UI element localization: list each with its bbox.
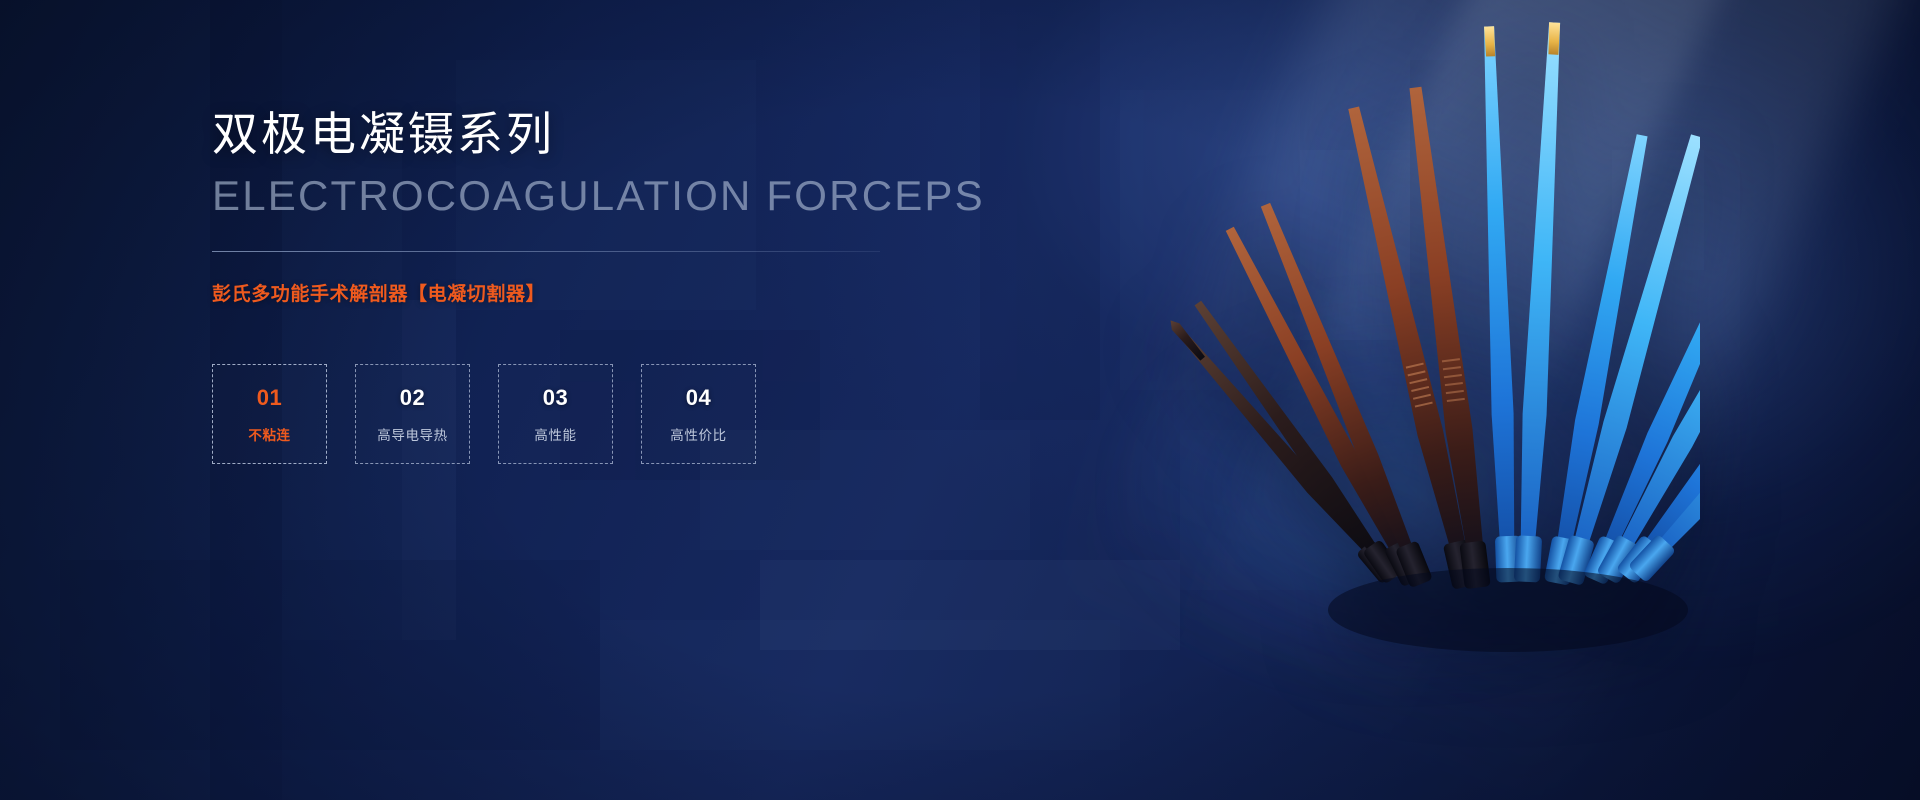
feature-item-01[interactable]: 01 不粘连 [212,364,327,464]
product-tagline: 彭氏多功能手术解剖器【电凝切割器】 [212,279,932,306]
feature-label: 高性价比 [670,424,726,444]
feature-label: 高导电导热 [377,424,448,444]
feature-number: 01 [257,385,282,411]
feature-item-03[interactable]: 03 高性能 [498,364,613,464]
hero-content: 双极电凝镊系列 ELECTROCOAGULATION FORCEPS 彭氏多功能… [212,108,932,464]
divider [212,251,880,252]
feature-number: 02 [400,385,425,411]
page-subtitle-english: ELECTROCOAGULATION FORCEPS [212,173,932,219]
feature-item-02[interactable]: 02 高导电导热 [355,364,470,464]
feature-item-04[interactable]: 04 高性价比 [641,364,756,464]
feature-number: 03 [543,385,568,411]
product-hero-banner: 双极电凝镊系列 ELECTROCOAGULATION FORCEPS 彭氏多功能… [0,0,1920,800]
page-title: 双极电凝镊系列 [212,108,932,161]
feature-label: 不粘连 [248,424,290,444]
feature-list: 01 不粘连 02 高导电导热 03 高性能 04 高性价比 [212,364,932,464]
feature-number: 04 [686,385,711,411]
feature-label: 高性能 [534,424,576,444]
